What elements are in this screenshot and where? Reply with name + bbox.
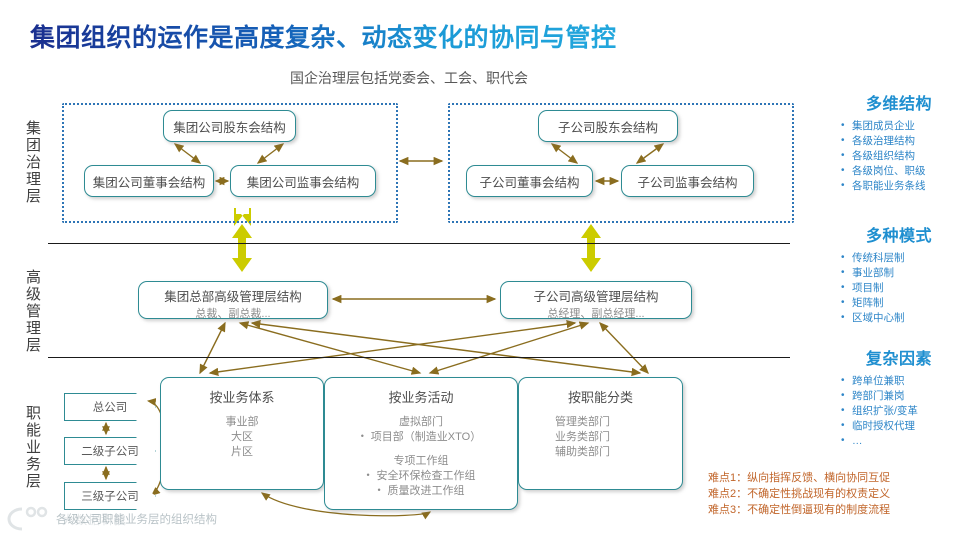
page-title: 集团组织的运作是高度复杂、动态变化的协同与管控 (30, 18, 617, 54)
list-item: 矩阵制 (838, 296, 960, 311)
chevron-label: 二级子公司 (81, 443, 139, 459)
node-title: 按业务活动 (325, 387, 517, 406)
layer-divider-bottom (48, 357, 790, 358)
panel-list: 跨单位兼职 跨部门兼岗 组织扩张/变革 临时授权代理 … (838, 374, 960, 449)
panel-list: 集团成员企业 各级治理结构 各级组织结构 各级岗位、职级 各职能业务条线 (838, 119, 960, 194)
node-title: 按业务体系 (161, 387, 323, 406)
slide-canvas: 集团组织的运作是高度复杂、动态变化的协同与管控 国企治理层包括党委会、工会、职代… (0, 0, 960, 540)
node-subsidiary-board[interactable]: 子公司董事会结构 (466, 165, 593, 197)
list-item: … (838, 434, 960, 449)
list-item: 各级组织结构 (838, 149, 960, 164)
node-group-supervisors[interactable]: 集团公司监事会结构 (230, 165, 376, 197)
difficulty-item: 难点2：不确定性挑战现有的权责定义 (708, 486, 958, 502)
panel-heading: 多种模式 (838, 222, 960, 246)
chevron-parent-company[interactable]: 总公司 (64, 393, 156, 421)
list-item: 临时授权代理 (838, 419, 960, 434)
watermark-text: 大数据科技 (62, 511, 127, 528)
layer-divider-top (48, 243, 790, 244)
node-label: 子公司股东会结构 (558, 117, 658, 136)
list-item: 质量改进工作组 (378, 484, 465, 499)
layer-label-management: 高级管理层 (8, 255, 42, 367)
list-item: 项目部（制造业XTO） (361, 430, 481, 445)
list-item: 安全环保检查工作组 (367, 469, 476, 484)
list-item: 跨部门兼岗 (838, 389, 960, 404)
node-subsidiary-management[interactable]: 子公司高级管理层结构 总经理、副总经理... (500, 281, 692, 319)
node-label: 集团公司监事会结构 (247, 172, 360, 191)
node-by-function[interactable]: 按职能分类 管理类部门 业务类部门 辅助类部门 (518, 377, 683, 490)
node-label: 子公司董事会结构 (479, 172, 579, 191)
node-title: 按职能分类 (519, 387, 682, 406)
node-by-business-system[interactable]: 按业务体系 事业部 大区 片区 (160, 377, 324, 490)
list-item: 跨单位兼职 (838, 374, 960, 389)
node-by-business-activity[interactable]: 按业务活动 虚拟部门 项目部（制造业XTO） 专项工作组 安全环保检查工作组 质… (324, 377, 518, 510)
panel-heading: 多维结构 (838, 90, 960, 114)
chevron-label: 总公司 (93, 399, 128, 415)
panel-multi-dimensional-structure: 多维结构 集团成员企业 各级治理结构 各级组织结构 各级岗位、职级 各职能业务条… (838, 90, 960, 194)
list-item: 区域中心制 (838, 311, 960, 326)
node-group-shareholders[interactable]: 集团公司股东会结构 (163, 110, 296, 142)
node-subsidiary-supervisors[interactable]: 子公司监事会结构 (621, 165, 754, 197)
list-item: 业务类部门 (555, 430, 682, 445)
node-title: 集团总部高级管理层结构 (139, 286, 327, 305)
list-item: 集团成员企业 (838, 119, 960, 134)
chevron-label: 三级子公司 (81, 488, 139, 504)
list-item: 事业部制 (838, 266, 960, 281)
group-title: 专项工作组 (325, 454, 517, 469)
layer-label-governance: 集团治理层 (8, 104, 42, 220)
watermark: 大数据科技 (6, 503, 256, 537)
panel-heading: 复杂因素 (838, 345, 960, 369)
difficulty-item: 难点3：不确定性倒逼现有的制度流程 (708, 502, 958, 518)
list-item: 各职能业务条线 (838, 179, 960, 194)
node-subtitle: 总经理、副总经理... (501, 305, 691, 321)
panel-list: 传统科层制 事业部制 项目制 矩阵制 区域中心制 (838, 251, 960, 326)
panel-multiple-modes: 多种模式 传统科层制 事业部制 项目制 矩阵制 区域中心制 (838, 222, 960, 326)
node-title: 子公司高级管理层结构 (501, 286, 691, 305)
list-item: 大区 (161, 430, 323, 445)
list-item: 组织扩张/变革 (838, 404, 960, 419)
node-subtitle: 总裁、副总裁... (139, 305, 327, 321)
list-item: 辅助类部门 (555, 445, 682, 460)
difficulty-item: 难点1：纵向指挥反馈、横向协同互促 (708, 470, 958, 486)
node-label: 子公司监事会结构 (637, 172, 737, 191)
group-title: 虚拟部门 (325, 415, 517, 430)
node-group-board[interactable]: 集团公司董事会结构 (84, 165, 214, 197)
list-item: 各级治理结构 (838, 134, 960, 149)
list-item: 事业部 (161, 415, 323, 430)
page-subtitle: 国企治理层包括党委会、工会、职代会 (290, 68, 528, 88)
node-hq-management[interactable]: 集团总部高级管理层结构 总裁、副总裁... (138, 281, 328, 319)
node-subsidiary-shareholders[interactable]: 子公司股东会结构 (538, 110, 678, 142)
list-item: 管理类部门 (555, 415, 682, 430)
list-item: 片区 (161, 445, 323, 460)
list-item: 项目制 (838, 281, 960, 296)
node-label: 集团公司董事会结构 (93, 172, 206, 191)
chevron-second-tier-subsidiary[interactable]: 二级子公司 (64, 437, 156, 465)
panel-complex-factors: 复杂因素 跨单位兼职 跨部门兼岗 组织扩张/变革 临时授权代理 … (838, 345, 960, 449)
watermark-logo-icon (6, 503, 56, 533)
layer-label-functional: 职能业务层 (8, 382, 42, 512)
list-item: 传统科层制 (838, 251, 960, 266)
node-label: 集团公司股东会结构 (173, 117, 286, 136)
difficulties-list: 难点1：纵向指挥反馈、横向协同互促 难点2：不确定性挑战现有的权责定义 难点3：… (708, 470, 958, 518)
list-item: 各级岗位、职级 (838, 164, 960, 179)
